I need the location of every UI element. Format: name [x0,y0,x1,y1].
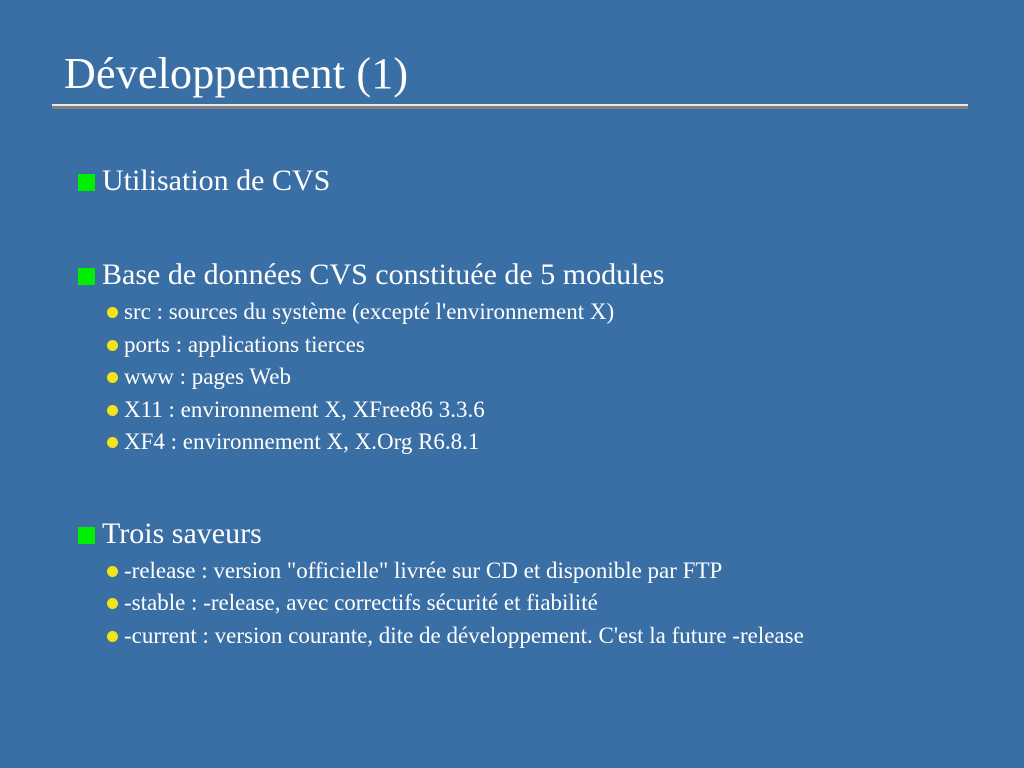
bullet-level2: ports : applications tierces [78,329,978,362]
bullet-group: Utilisation de CVS [78,162,978,200]
bullet-level2: www : pages Web [78,361,978,394]
square-bullet-icon [78,174,95,191]
bullet-level2-label: ports : applications tierces [124,329,978,362]
bullet-sublist: src : sources du système (excepté l'envi… [78,296,978,459]
bullet-level1: Base de données CVS constituée de 5 modu… [78,256,978,294]
bullet-level1: Trois saveurs [78,515,978,553]
bullet-level2-label: -release : version "officielle" livrée s… [124,555,978,588]
dot-bullet-icon [107,566,118,577]
bullet-level2: XF4 : environnement X, X.Org R6.8.1 [78,426,978,459]
dot-bullet-icon [107,631,118,642]
title-block: Développement (1) [52,48,968,109]
bullet-level2: -stable : -release, avec correctifs sécu… [78,587,978,620]
bullet-sublist: -release : version "officielle" livrée s… [78,555,978,653]
dot-bullet-icon [107,437,118,448]
bullet-level1-label: Utilisation de CVS [102,162,330,200]
bullet-level2-label: -current : version courante, dite de dév… [124,620,978,653]
bullet-level2: -release : version "officielle" livrée s… [78,555,978,588]
slide-content: Utilisation de CVS Base de données CVS c… [78,162,978,652]
dot-bullet-icon [107,307,118,318]
bullet-level1-label: Base de données CVS constituée de 5 modu… [102,256,664,294]
bullet-level2-label: src : sources du système (excepté l'envi… [124,296,978,329]
bullet-level2-label: XF4 : environnement X, X.Org R6.8.1 [124,426,978,459]
title-underline-rule [52,104,968,109]
bullet-group: Trois saveurs -release : version "offici… [78,515,978,653]
page-title: Développement (1) [52,48,968,100]
slide: Développement (1) Utilisation de CVS Bas… [0,0,1024,768]
bullet-level2: -current : version courante, dite de dév… [78,620,978,653]
dot-bullet-icon [107,372,118,383]
bullet-level2: X11 : environnement X, XFree86 3.3.6 [78,394,978,427]
dot-bullet-icon [107,598,118,609]
bullet-level2-label: www : pages Web [124,361,978,394]
square-bullet-icon [78,527,95,544]
dot-bullet-icon [107,340,118,351]
bullet-level2-label: X11 : environnement X, XFree86 3.3.6 [124,394,978,427]
bullet-level1-label: Trois saveurs [102,515,262,553]
bullet-level2-label: -stable : -release, avec correctifs sécu… [124,587,978,620]
square-bullet-icon [78,268,95,285]
bullet-level1: Utilisation de CVS [78,162,978,200]
bullet-level2: src : sources du système (excepté l'envi… [78,296,978,329]
bullet-group: Base de données CVS constituée de 5 modu… [78,256,978,459]
dot-bullet-icon [107,405,118,416]
